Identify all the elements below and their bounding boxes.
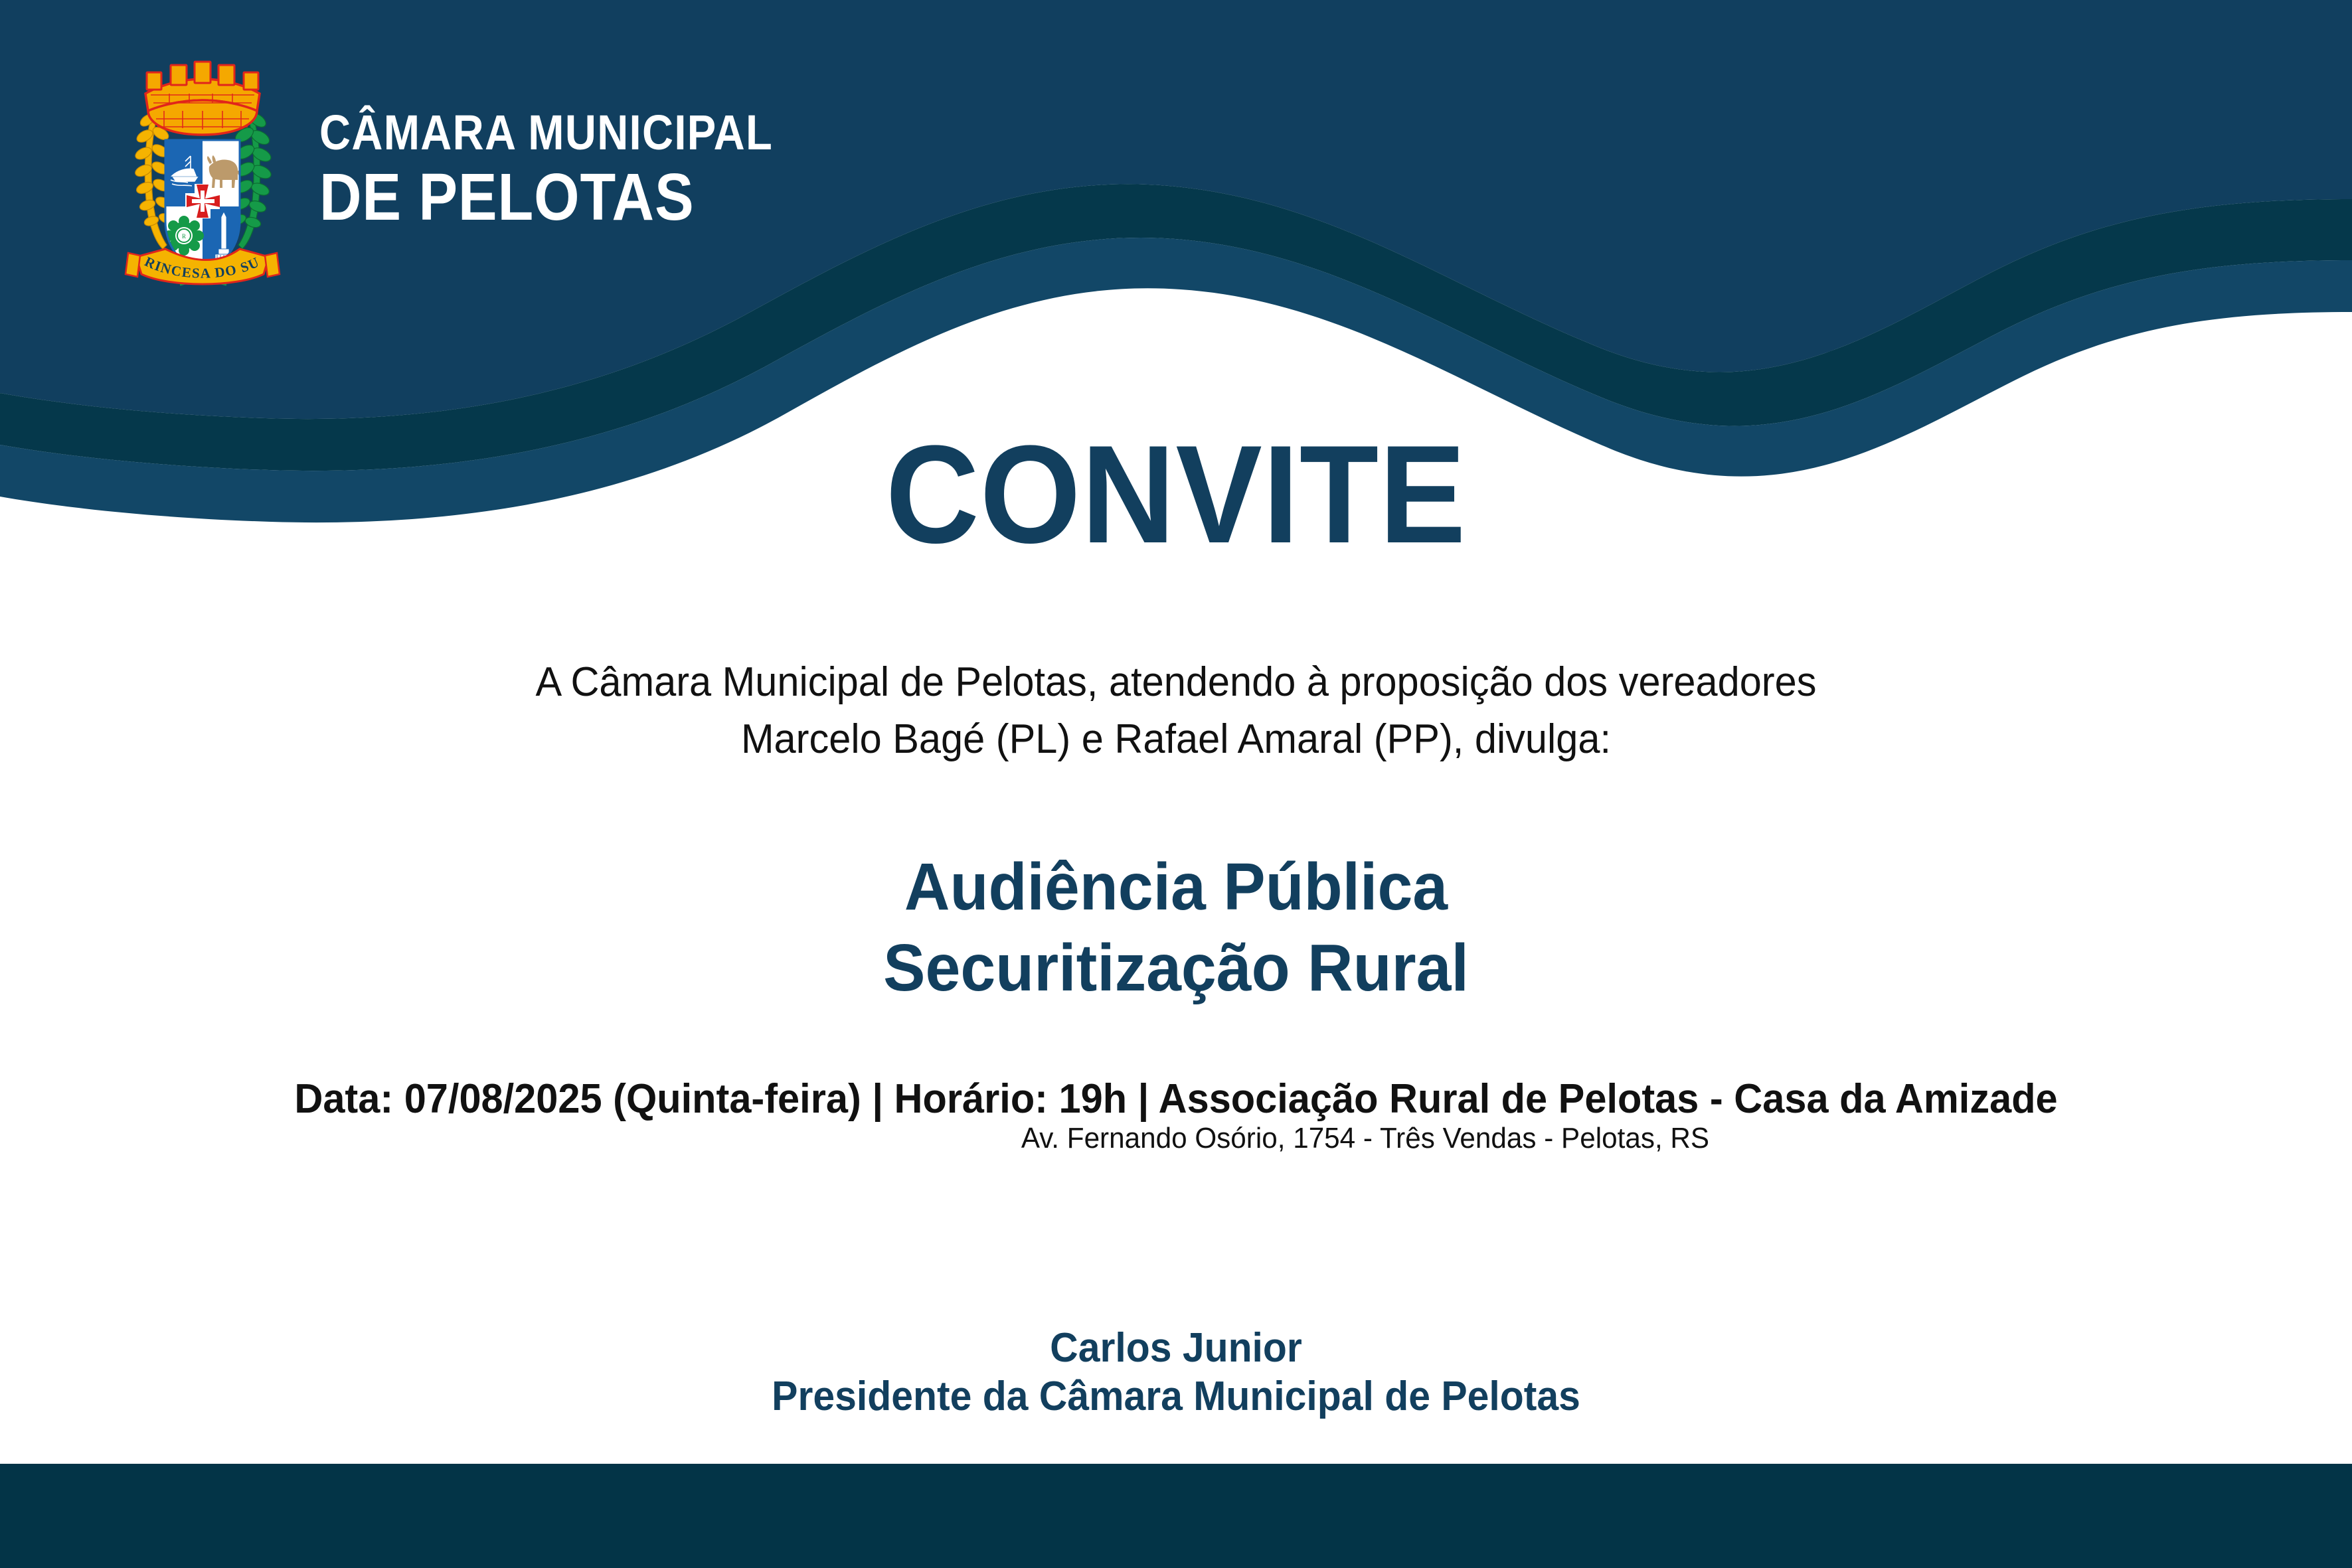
intro-line-1: A Câmara Municipal de Pelotas, atendendo… [47, 654, 2305, 711]
intro-line-2: Marcelo Bagé (PL) e Rafael Amaral (PP), … [47, 711, 2305, 768]
signatory-name: Carlos Junior [59, 1324, 2294, 1372]
org-name-line-2: DE PELOTAS [319, 164, 773, 230]
event-datetime-venue: Data: 07/08/2025 (Quinta-feira) | Horári… [47, 1075, 2305, 1123]
brand-wordmark: CÂMARA MUNICIPAL DE PELOTAS [319, 108, 835, 230]
event-subject: Audiência Pública Securitização Rural [59, 846, 2294, 1008]
pelotas-coat-of-arms-icon: R [116, 50, 289, 289]
invitation-poster: R [0, 0, 2352, 1568]
rosette-icon: R [164, 216, 204, 256]
event-address: Av. Fernando Osório, 1754 - Três Vendas … [236, 1122, 2352, 1155]
svg-text:R: R [182, 233, 186, 240]
brand-logo: R [116, 50, 835, 289]
page-title: CONVITE [82, 425, 2270, 564]
mural-crown-icon [145, 62, 260, 135]
signatory-role: Presidente da Câmara Municipal de Pelota… [59, 1373, 2294, 1420]
intro-paragraph: A Câmara Municipal de Pelotas, atendendo… [47, 654, 2305, 767]
org-name-line-1: CÂMARA MUNICIPAL [319, 108, 773, 157]
event-subject-line-1: Audiência Pública [59, 846, 2294, 927]
event-subject-line-2: Securitização Rural [59, 927, 2294, 1008]
